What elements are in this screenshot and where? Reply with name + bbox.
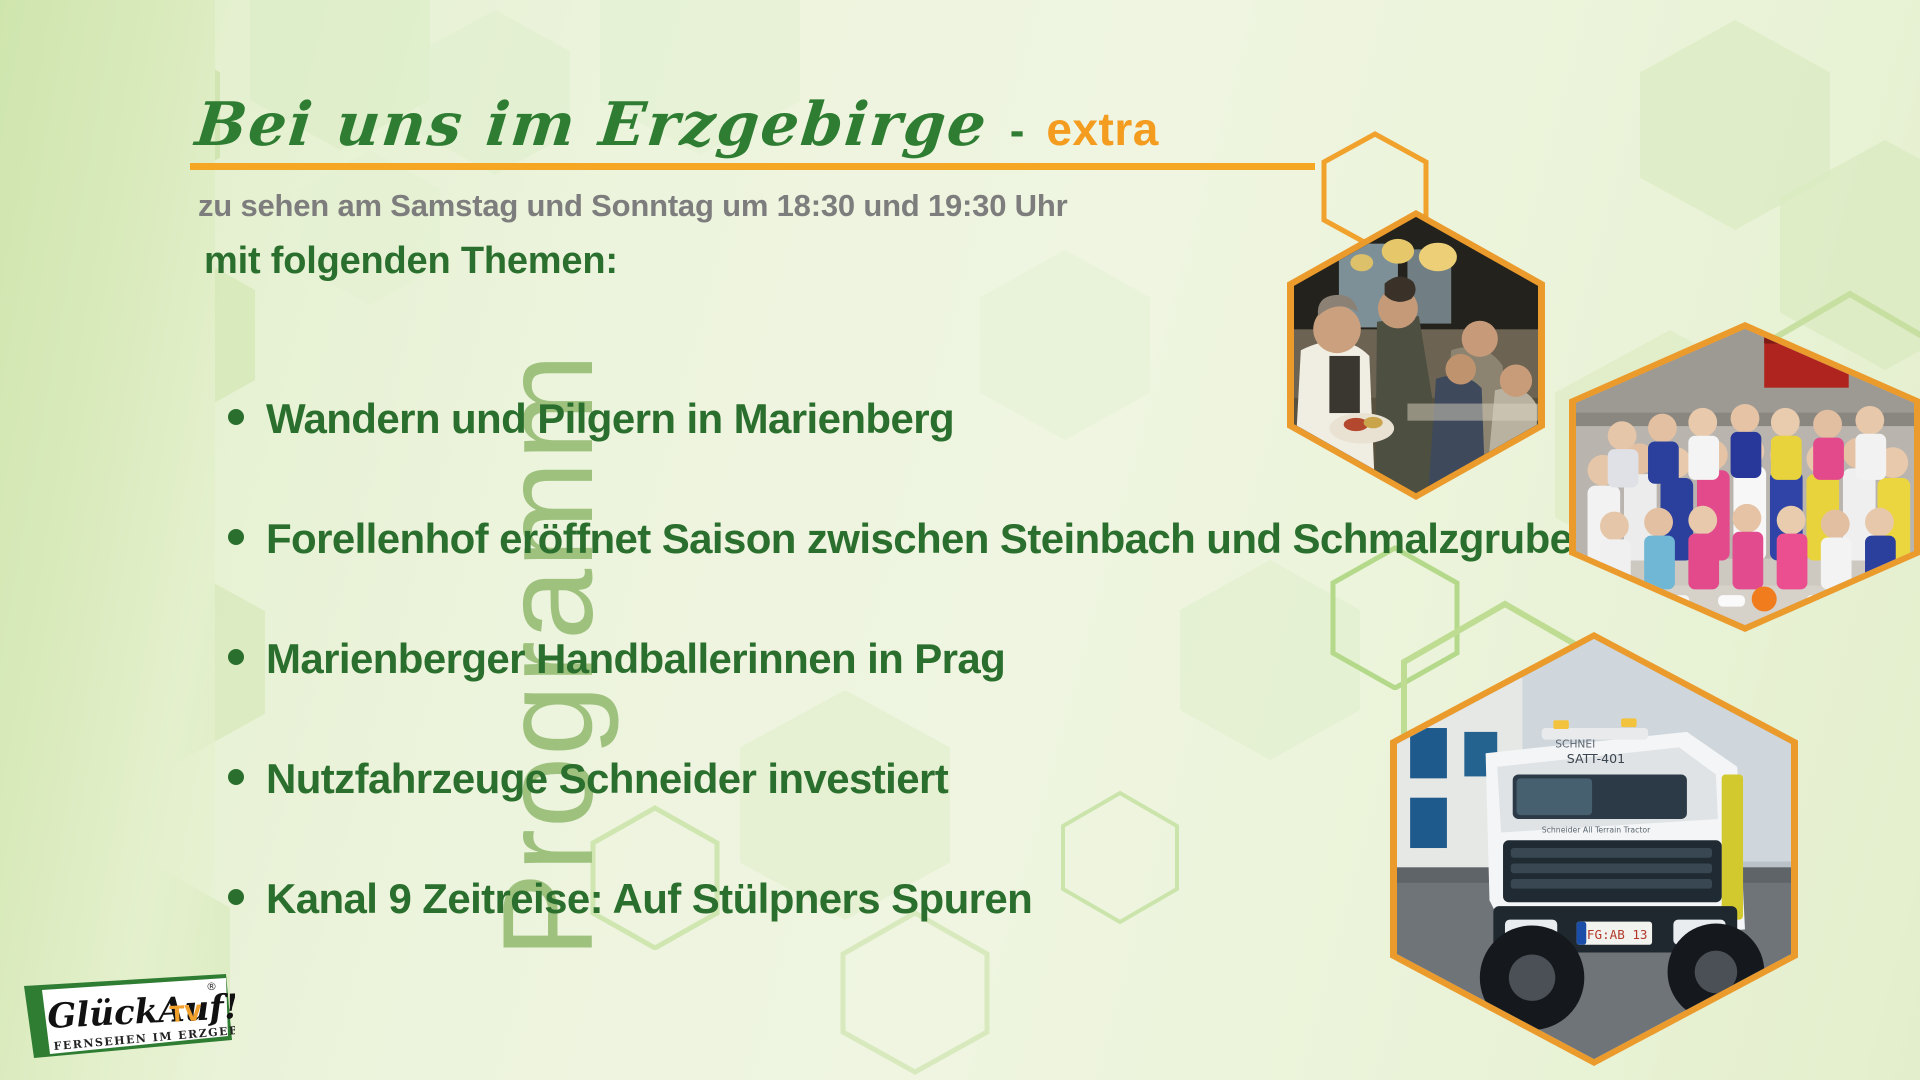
left-gradient-band xyxy=(0,0,215,1080)
title-row: Bei uns im Erzgebirge - extra xyxy=(190,95,1315,155)
photo-frame xyxy=(1569,322,1920,632)
svg-text:FG:AB 13: FG:AB 13 xyxy=(1587,927,1648,942)
hexagon-shape xyxy=(1640,20,1830,230)
list-item: Kanal 9 Zeitreise: Auf Stülpners Spuren xyxy=(228,875,1568,995)
photo-hexagon-truck: FG:AB 13 SATT-401 Schneider All Terrain … xyxy=(1390,632,1798,1066)
photo-image-dinner xyxy=(1294,217,1538,493)
svg-text:SATT-401: SATT-401 xyxy=(1567,751,1625,766)
photo-frame: FG:AB 13 SATT-401 Schneider All Terrain … xyxy=(1390,632,1798,1066)
logo-tv-label: TV xyxy=(169,1001,202,1028)
broadcast-slide: Programm Bei uns im Erzgebirge - extra z… xyxy=(0,0,1920,1080)
svg-text:Schneider All Terrain Tractor: Schneider All Terrain Tractor xyxy=(1542,826,1651,835)
page-title: Bei uns im Erzgebirge xyxy=(193,95,991,155)
title-separator: - xyxy=(1010,109,1025,153)
title-suffix-extra: extra xyxy=(1046,106,1158,152)
bullet-icon xyxy=(228,529,244,545)
logo-registered-mark: ® xyxy=(206,980,217,993)
topic-label: Wandern und Pilgern in Marienberg xyxy=(266,395,954,443)
bullet-icon xyxy=(228,409,244,425)
topic-label: Kanal 9 Zeitreise: Auf Stülpners Spuren xyxy=(266,875,1032,923)
channel-logo: GlückAuf! TV ® FERNSEHEN IM ERZGEBIRGE xyxy=(20,970,235,1062)
topic-label: Forellenhof eröffnet Saison zwischen Ste… xyxy=(266,515,1572,563)
orange-divider-rule xyxy=(190,163,1315,170)
list-item: Forellenhof eröffnet Saison zwischen Ste… xyxy=(228,515,1568,635)
topic-label: Nutzfahrzeuge Schneider investiert xyxy=(266,755,948,803)
slide-header: Bei uns im Erzgebirge - extra zu sehen a… xyxy=(190,95,1315,283)
topic-label: Marienberger Handballerinnen in Prag xyxy=(266,635,1005,683)
list-item: Nutzfahrzeuge Schneider investiert xyxy=(228,755,1568,875)
broadcast-times-subtitle: zu sehen am Samstag und Sonntag um 18:30… xyxy=(190,188,1315,224)
svg-text:SCHNEI: SCHNEI xyxy=(1555,737,1595,750)
list-item: Marienberger Handballerinnen in Prag xyxy=(228,635,1568,755)
photo-frame xyxy=(1287,210,1545,500)
bullet-icon xyxy=(228,889,244,905)
photo-hexagon-dinner xyxy=(1287,210,1545,500)
lead-in-text: mit folgenden Themen: xyxy=(190,240,1315,283)
photo-hexagon-handball-team xyxy=(1569,322,1920,632)
bullet-icon xyxy=(228,649,244,665)
photo-image-handball-team xyxy=(1576,329,1914,625)
photo-image-truck: FG:AB 13 SATT-401 Schneider All Terrain … xyxy=(1397,639,1791,1059)
bullet-icon xyxy=(228,769,244,785)
